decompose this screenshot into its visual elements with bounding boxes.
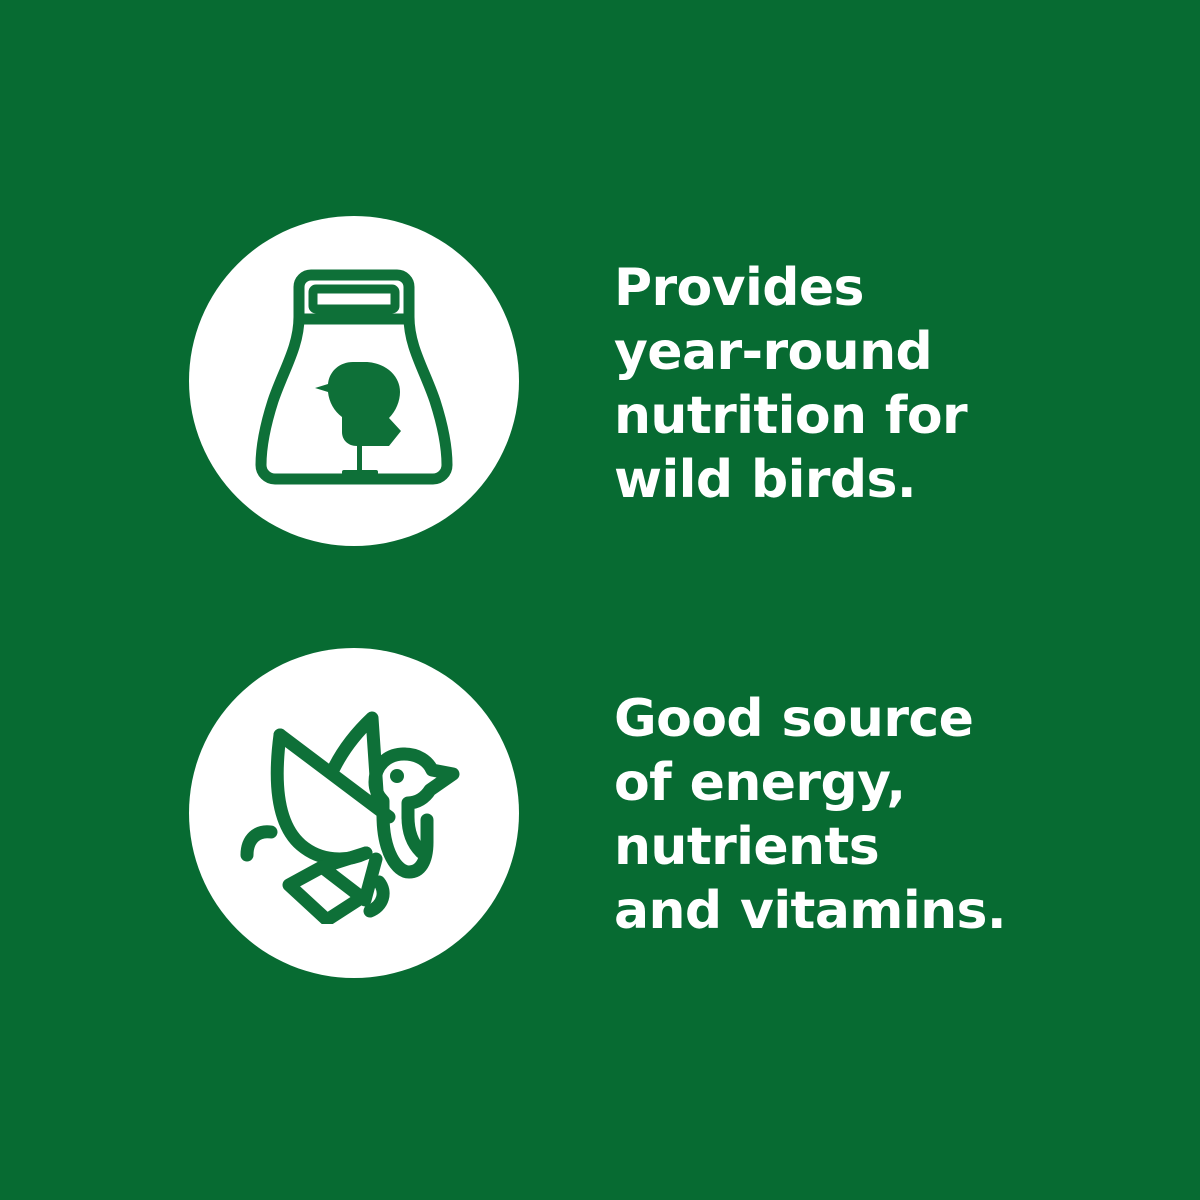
benefit-text-1: Provides year-round nutrition for wild b…	[614, 256, 1200, 512]
benefits-poster: Provides year-round nutrition for wild b…	[0, 0, 1200, 1200]
flying-bird-icon	[237, 702, 472, 924]
benefit-item-1: Provides year-round nutrition for wild b…	[0, 216, 1200, 546]
benefit-text-2: Good source of energy, nutrients and vit…	[614, 687, 1200, 943]
icon-badge-2	[189, 648, 519, 978]
bird-seed-bag-icon	[249, 261, 459, 501]
icon-badge-1	[189, 216, 519, 546]
benefit-item-2: Good source of energy, nutrients and vit…	[0, 648, 1200, 978]
bird-eye-icon	[390, 769, 404, 783]
